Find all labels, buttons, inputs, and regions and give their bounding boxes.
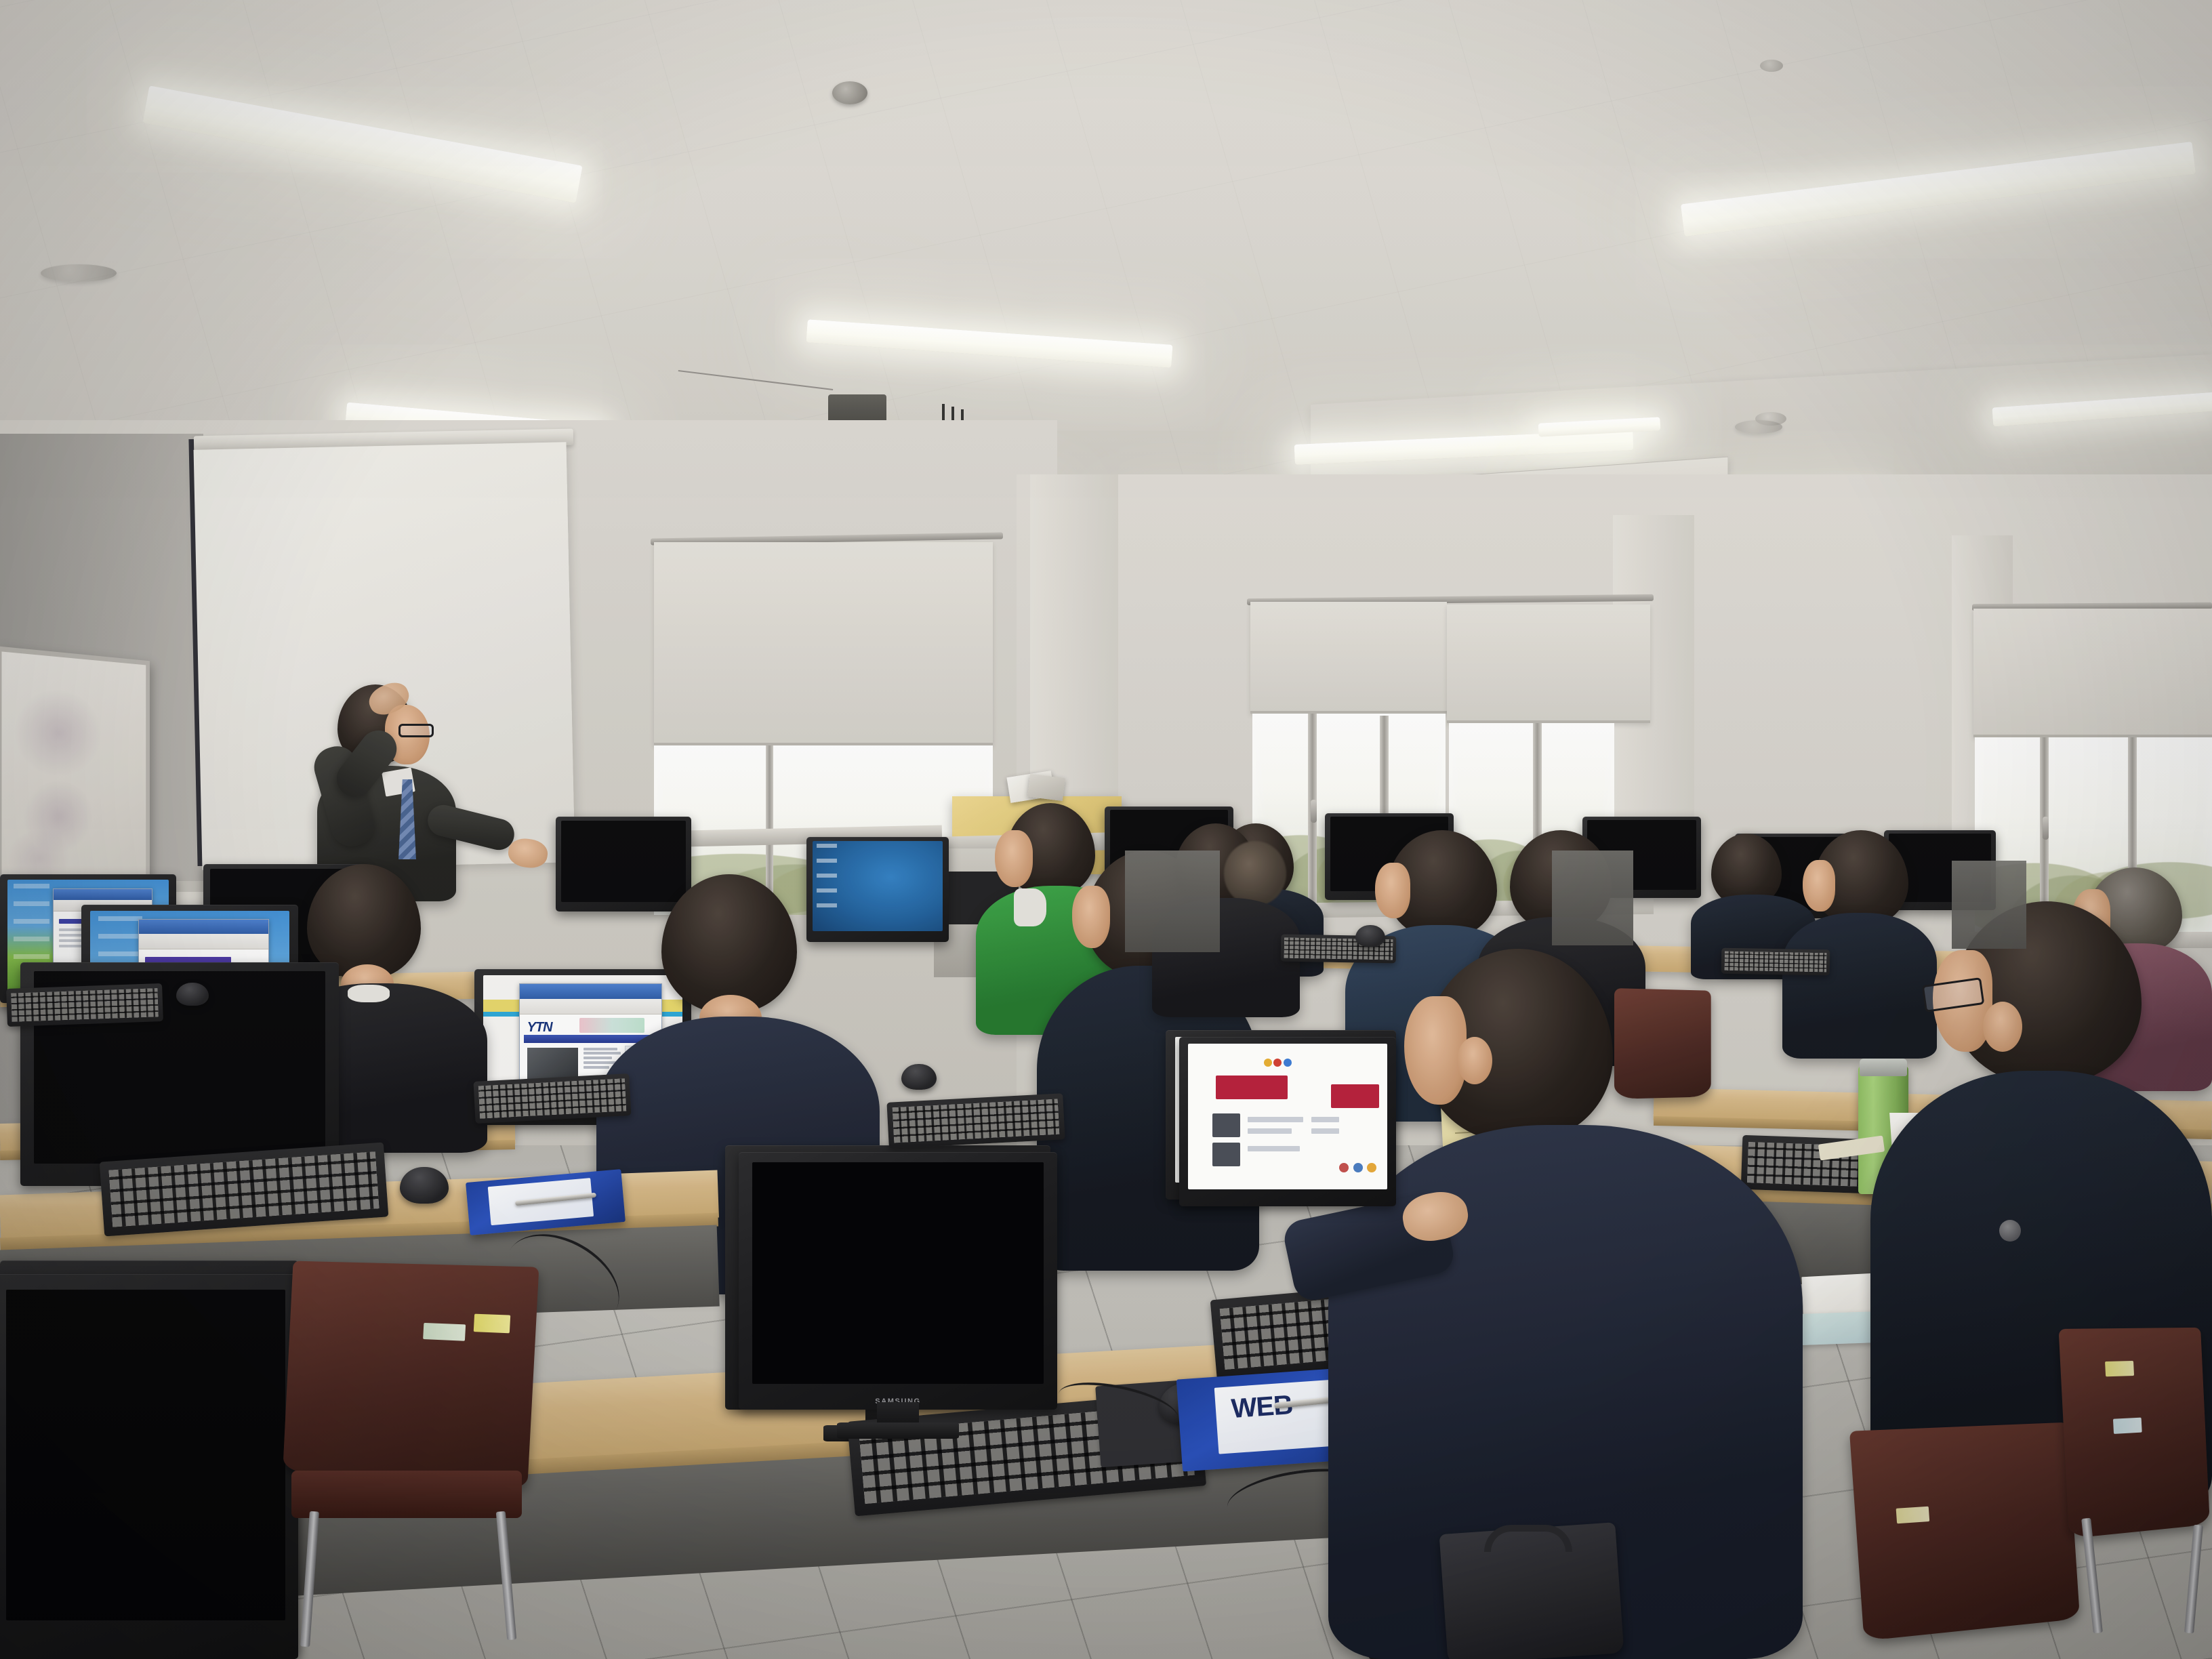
keyboard-keys[interactable] xyxy=(108,1152,380,1227)
monitor-screen xyxy=(6,1290,285,1620)
portal-banner-2[interactable] xyxy=(1331,1084,1378,1107)
chair-inventory-tag xyxy=(2105,1361,2134,1376)
monitor-portal-large[interactable] xyxy=(1179,1037,1396,1206)
student-face xyxy=(1404,996,1467,1105)
monitor-bottom-left[interactable] xyxy=(0,1274,298,1659)
blue-desktop-wallpaper xyxy=(813,841,943,931)
chair-right-foreground[interactable] xyxy=(1849,1422,2080,1641)
instructor-extended-hand xyxy=(506,836,549,870)
monitor-stand-base xyxy=(837,1422,959,1439)
keyboard-back-left[interactable] xyxy=(6,983,163,1027)
desk-divider-3 xyxy=(1952,861,2026,949)
chair-asset-sticker xyxy=(1896,1507,1930,1524)
glasses-icon xyxy=(398,724,434,737)
chair-far-right[interactable] xyxy=(2059,1328,2210,1538)
student-face xyxy=(995,830,1033,887)
monitor-lower-center[interactable]: SAMSUNG xyxy=(739,1152,1057,1410)
classroom-photo: YTN xyxy=(0,0,2212,1659)
chair-asset-sticker xyxy=(2113,1418,2142,1434)
monitor-blue-desktop[interactable] xyxy=(806,837,949,942)
desk-divider-1 xyxy=(1125,851,1220,952)
browser-toolbar xyxy=(139,934,268,949)
keyboard-keys[interactable] xyxy=(478,1079,626,1118)
mouse-back-left[interactable] xyxy=(176,983,209,1006)
ceiling-vent-icon-2 xyxy=(1735,420,1782,434)
backpack-handle xyxy=(1484,1525,1572,1552)
ceiling-vent-icon xyxy=(41,264,117,282)
window-blind-1[interactable] xyxy=(654,542,993,745)
student-face xyxy=(1375,863,1410,918)
student-face xyxy=(1803,860,1835,912)
window-latch-1[interactable] xyxy=(1311,800,1317,823)
smoke-detector-icon xyxy=(832,81,867,104)
whiteboard xyxy=(0,646,150,905)
desk-divider-2 xyxy=(1552,851,1633,945)
window-blind-4[interactable] xyxy=(1973,609,2212,737)
keyboard-middle-row[interactable] xyxy=(886,1093,1065,1149)
keyboard-center[interactable] xyxy=(474,1073,632,1124)
ytn-logo: YTN xyxy=(527,1020,552,1036)
browser-titlebar xyxy=(139,920,268,934)
keyboard-keys[interactable] xyxy=(11,988,159,1022)
ytn-headline-video[interactable] xyxy=(527,1048,578,1079)
sprinkler-head-icon xyxy=(1760,60,1783,72)
mouse-center[interactable] xyxy=(901,1064,937,1090)
mouse-back-center[interactable] xyxy=(1355,925,1385,947)
whiteboard-smudge-1 xyxy=(14,687,100,776)
window-blind-2[interactable] xyxy=(1250,602,1447,714)
portal-banner[interactable] xyxy=(1216,1076,1288,1099)
fur-hood-trim xyxy=(1224,841,1286,906)
podium-document-2 xyxy=(1027,774,1065,801)
keyboard-keys[interactable] xyxy=(893,1099,1060,1143)
student-shirt-collar xyxy=(348,985,390,1002)
monitor-screen xyxy=(752,1162,1044,1384)
student-ear xyxy=(1457,1037,1492,1084)
mouse-left[interactable] xyxy=(400,1167,449,1204)
coat-button xyxy=(1999,1220,2021,1242)
chair-asset-sticker xyxy=(423,1323,466,1341)
chair-mid-right[interactable] xyxy=(1614,988,1711,1099)
monitor-screen xyxy=(813,841,943,931)
browser-titlebar xyxy=(54,889,152,900)
student-face xyxy=(1072,886,1110,948)
student-ear xyxy=(1983,1002,2022,1052)
instructor xyxy=(298,671,569,895)
chair-inventory-tag xyxy=(474,1314,510,1334)
window-latch-2[interactable] xyxy=(2043,817,2049,840)
monitor-screen xyxy=(1188,1044,1387,1189)
chair-seat-left[interactable] xyxy=(291,1471,522,1518)
chair-foreground-left[interactable] xyxy=(283,1261,539,1491)
window-blind-3[interactable] xyxy=(1447,605,1650,723)
student-head xyxy=(661,874,797,1013)
